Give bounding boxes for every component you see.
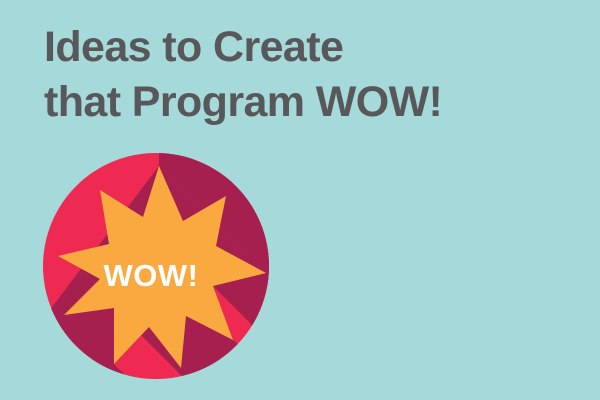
page-title-line-1: Ideas to Create <box>44 20 584 75</box>
starburst-icon <box>42 152 274 384</box>
page-title: Ideas to Create that Program WOW! <box>44 20 584 130</box>
slide-canvas: Ideas to Create that Program WOW! <box>0 0 600 400</box>
page-title-line-2: that Program WOW! <box>44 75 584 130</box>
wow-starburst-badge: WOW! <box>42 152 274 384</box>
